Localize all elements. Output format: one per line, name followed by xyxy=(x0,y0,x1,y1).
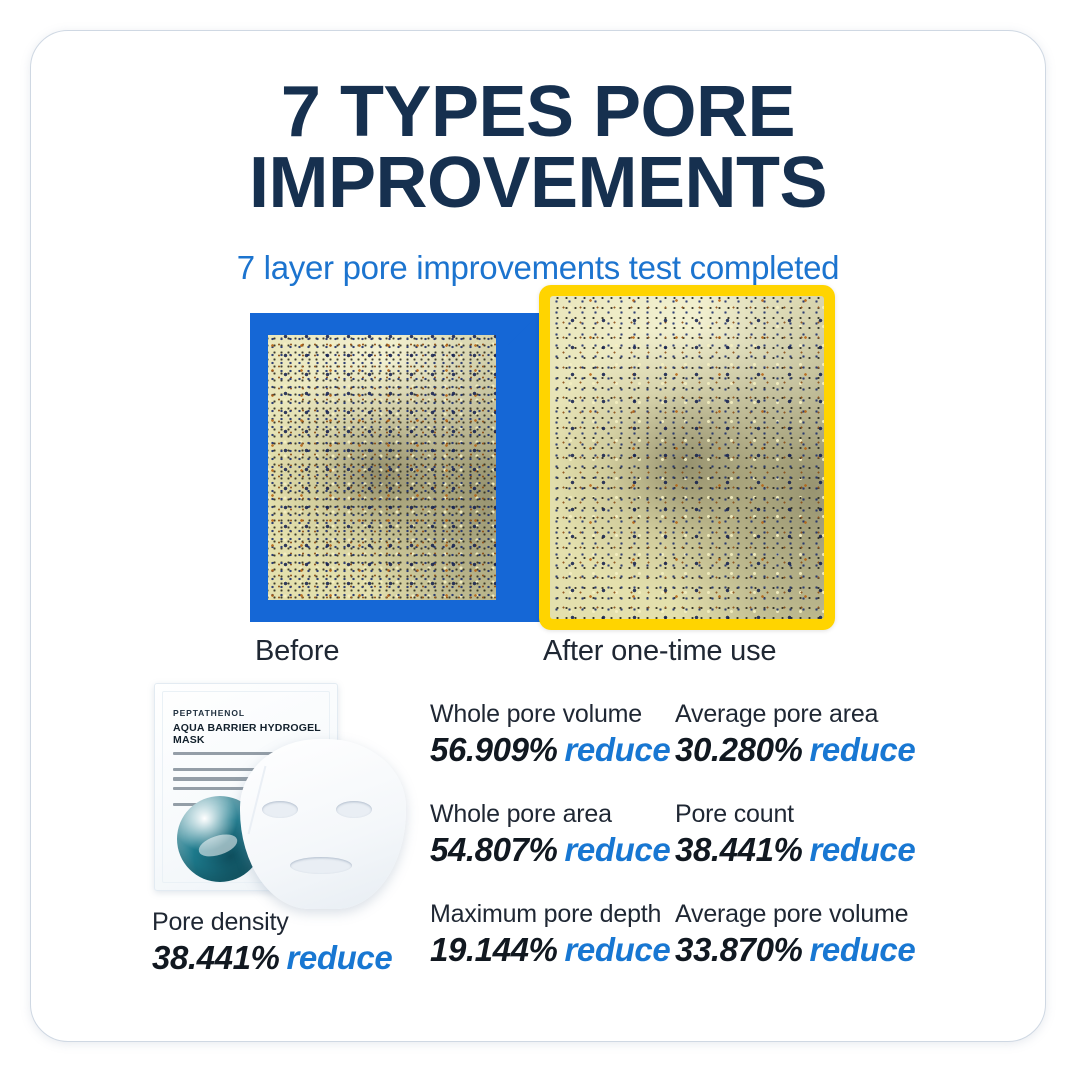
stat-value: 54.807%reduce xyxy=(430,831,670,869)
stat-whole-pore-area: Whole pore area 54.807%reduce xyxy=(430,800,670,869)
stat-suffix: reduce xyxy=(286,939,392,976)
after-panel xyxy=(539,285,835,630)
stat-label: Whole pore volume xyxy=(430,700,670,729)
stat-label: Pore count xyxy=(675,800,915,829)
stat-suffix: reduce xyxy=(809,731,915,768)
stat-label: Average pore volume xyxy=(675,900,915,929)
stat-label: Maximum pore depth xyxy=(430,900,670,929)
stat-label: Whole pore area xyxy=(430,800,670,829)
before-panel xyxy=(250,313,540,622)
mask-mouth-hole xyxy=(290,857,352,874)
stat-value: 38.441%reduce xyxy=(152,939,392,977)
sheet-mask xyxy=(240,739,406,909)
stat-pore-density: Pore density 38.441%reduce xyxy=(152,908,392,977)
stat-value: 19.144%reduce xyxy=(430,931,670,969)
before-pore-grain-large xyxy=(268,335,496,600)
after-caption: After one-time use xyxy=(543,635,776,668)
stat-value: 38.441%reduce xyxy=(675,831,915,869)
stat-suffix: reduce xyxy=(809,931,915,968)
stat-number: 30.280% xyxy=(675,731,802,768)
stat-suffix: reduce xyxy=(809,831,915,868)
stat-suffix: reduce xyxy=(564,931,670,968)
stat-average-pore-area: Average pore area 30.280%reduce xyxy=(675,700,915,769)
after-pore-grain-large xyxy=(550,296,824,619)
stat-pore-count: Pore count 38.441%reduce xyxy=(675,800,915,869)
stat-value: 33.870%reduce xyxy=(675,931,915,969)
stat-number: 38.441% xyxy=(675,831,802,868)
stat-suffix: reduce xyxy=(564,731,670,768)
before-caption: Before xyxy=(255,635,339,668)
stat-value: 30.280%reduce xyxy=(675,731,915,769)
stat-number: 38.441% xyxy=(152,939,279,976)
after-skin-photo xyxy=(550,296,824,619)
product-brand: PEPTATHENOL xyxy=(173,708,325,718)
product-packshot: PEPTATHENOL AQUA BARRIER HYDROGEL MASK xyxy=(148,683,424,911)
mask-fold-line xyxy=(248,766,267,834)
stat-number: 33.870% xyxy=(675,931,802,968)
stat-label: Average pore area xyxy=(675,700,915,729)
stat-average-pore-volume: Average pore volume 33.870%reduce xyxy=(675,900,915,969)
stat-maximum-pore-depth: Maximum pore depth 19.144%reduce xyxy=(430,900,670,969)
mask-eye-hole-left xyxy=(262,801,298,818)
mask-eye-hole-right xyxy=(336,801,372,818)
before-skin-photo xyxy=(268,335,496,600)
stat-suffix: reduce xyxy=(564,831,670,868)
stat-label: Pore density xyxy=(152,908,392,937)
stat-whole-pore-volume: Whole pore volume 56.909%reduce xyxy=(430,700,670,769)
infographic-stage: 7 TYPES PORE IMPROVEMENTS 7 layer pore i… xyxy=(0,0,1080,1080)
stat-number: 54.807% xyxy=(430,831,557,868)
stat-value: 56.909%reduce xyxy=(430,731,670,769)
stat-number: 19.144% xyxy=(430,931,557,968)
stat-number: 56.909% xyxy=(430,731,557,768)
